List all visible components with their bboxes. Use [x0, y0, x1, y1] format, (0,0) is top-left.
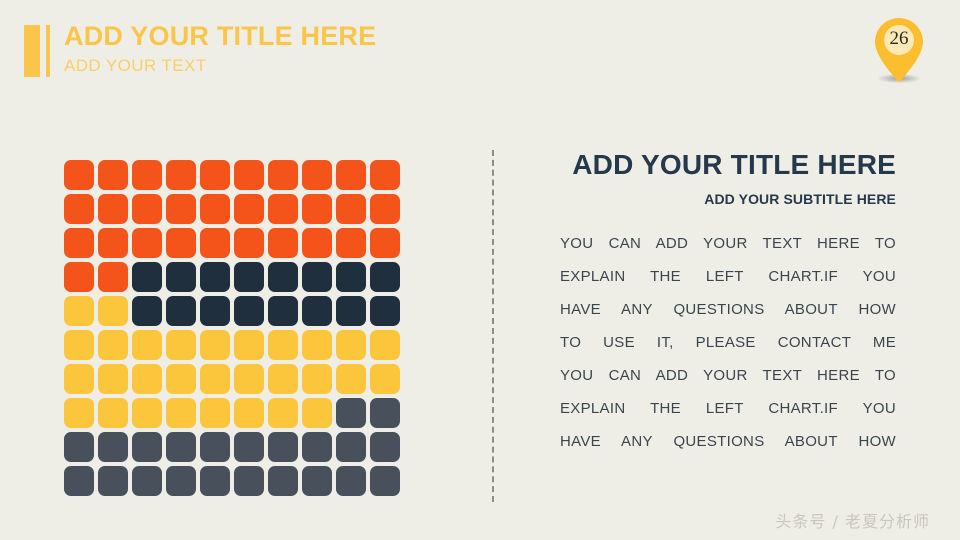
waffle-cell: [132, 466, 162, 496]
waffle-cell: [200, 330, 230, 360]
waffle-cell: [98, 262, 128, 292]
waffle-cell: [200, 160, 230, 190]
waffle-cell: [302, 194, 332, 224]
waffle-cell: [234, 330, 264, 360]
waffle-cell: [234, 466, 264, 496]
waffle-cell: [370, 296, 400, 326]
waffle-cell: [200, 228, 230, 258]
waffle-cell: [64, 364, 94, 394]
page-subtitle: ADD YOUR TEXT: [64, 56, 376, 76]
waffle-cell: [64, 432, 94, 462]
waffle-cell: [132, 262, 162, 292]
waffle-cell: [166, 330, 196, 360]
body-text-line: EXPLAIN THE LEFT CHART.IF YOU: [560, 400, 896, 417]
waffle-cell: [98, 160, 128, 190]
waffle-cell: [336, 364, 366, 394]
waffle-cell: [132, 330, 162, 360]
waffle-cell: [268, 330, 298, 360]
waffle-cell: [234, 398, 264, 428]
waffle-cell: [302, 330, 332, 360]
accent-bar-thick: [24, 25, 40, 77]
waffle-cell: [234, 228, 264, 258]
waffle-cell: [370, 330, 400, 360]
waffle-cell: [166, 194, 196, 224]
waffle-cell: [166, 296, 196, 326]
waffle-cell: [336, 160, 366, 190]
waffle-cell: [200, 364, 230, 394]
waffle-cell: [166, 466, 196, 496]
body-text-line: YOU CAN ADD YOUR TEXT HERE TO: [560, 235, 896, 252]
body-text-line: HAVE ANY QUESTIONS ABOUT HOW: [560, 301, 896, 318]
waffle-cell: [302, 466, 332, 496]
waffle-cell: [166, 364, 196, 394]
right-panel-subtitle: ADD YOUR SUBTITLE HERE: [560, 191, 896, 207]
waffle-cell: [336, 194, 366, 224]
waffle-cell: [200, 432, 230, 462]
waffle-cell: [98, 432, 128, 462]
body-text-line: HAVE ANY QUESTIONS ABOUT HOW: [560, 433, 896, 450]
waffle-cell: [132, 296, 162, 326]
waffle-cell: [302, 398, 332, 428]
page-title: ADD YOUR TITLE HERE: [64, 22, 376, 50]
waffle-cell: [132, 194, 162, 224]
waffle-cell: [336, 466, 366, 496]
waffle-cell: [336, 296, 366, 326]
waffle-cell: [98, 296, 128, 326]
waffle-cell: [98, 330, 128, 360]
waffle-cell: [370, 466, 400, 496]
waffle-cell: [302, 296, 332, 326]
body-text-line: TO USE IT, PLEASE CONTACT ME: [560, 334, 896, 351]
vertical-divider: [492, 150, 494, 502]
waffle-cell: [64, 194, 94, 224]
waffle-cell: [64, 466, 94, 496]
waffle-cell: [370, 262, 400, 292]
waffle-cell: [166, 262, 196, 292]
slide: ADD YOUR TITLE HERE ADD YOUR TEXT 26 ADD…: [0, 0, 960, 540]
waffle-cell: [98, 466, 128, 496]
waffle-cell: [132, 160, 162, 190]
right-panel-body: YOU CAN ADD YOUR TEXT HERE TOEXPLAIN THE…: [560, 235, 896, 450]
waffle-cell: [98, 364, 128, 394]
waffle-cell: [268, 432, 298, 462]
waffle-cell: [64, 262, 94, 292]
waffle-cell: [64, 398, 94, 428]
waffle-cell: [336, 262, 366, 292]
waffle-cell: [166, 398, 196, 428]
waffle-cell: [132, 398, 162, 428]
waffle-cell: [302, 262, 332, 292]
page-number-badge: 26: [866, 14, 932, 90]
waffle-cell: [268, 228, 298, 258]
waffle-cell: [370, 398, 400, 428]
waffle-cell: [268, 466, 298, 496]
waffle-cell: [336, 330, 366, 360]
waffle-chart: [64, 160, 400, 496]
waffle-cell: [234, 432, 264, 462]
waffle-cell: [370, 160, 400, 190]
waffle-cell: [98, 398, 128, 428]
header-accent-bars: [24, 22, 50, 77]
watermark: 头条号 / 老夏分析师: [775, 508, 930, 532]
body-text-line: YOU CAN ADD YOUR TEXT HERE TO: [560, 367, 896, 384]
waffle-cell: [98, 228, 128, 258]
waffle-cell: [336, 398, 366, 428]
waffle-cell: [234, 296, 264, 326]
page-number-text: 26: [866, 28, 932, 50]
waffle-cell: [268, 160, 298, 190]
waffle-cell: [166, 228, 196, 258]
waffle-cell: [336, 432, 366, 462]
waffle-cell: [234, 194, 264, 224]
waffle-cell: [234, 364, 264, 394]
waffle-cell: [268, 194, 298, 224]
waffle-cell: [302, 432, 332, 462]
waffle-cell: [64, 160, 94, 190]
waffle-cell: [268, 398, 298, 428]
waffle-cell: [268, 296, 298, 326]
waffle-cell: [98, 194, 128, 224]
waffle-cell: [234, 262, 264, 292]
waffle-cell: [64, 228, 94, 258]
waffle-cell: [370, 228, 400, 258]
slide-header: ADD YOUR TITLE HERE ADD YOUR TEXT: [24, 22, 376, 77]
waffle-cell: [200, 262, 230, 292]
accent-bar-thin: [46, 25, 50, 77]
waffle-cell: [132, 364, 162, 394]
waffle-cell: [166, 432, 196, 462]
waffle-cell: [336, 228, 366, 258]
waffle-cell: [302, 364, 332, 394]
body-text-line: EXPLAIN THE LEFT CHART.IF YOU: [560, 268, 896, 285]
right-panel: ADD YOUR TITLE HERE ADD YOUR SUBTITLE HE…: [560, 150, 896, 450]
waffle-cell: [268, 262, 298, 292]
waffle-cell: [370, 194, 400, 224]
waffle-cell: [132, 432, 162, 462]
waffle-cell: [200, 398, 230, 428]
waffle-cell: [234, 160, 264, 190]
waffle-cell: [302, 160, 332, 190]
header-text-group: ADD YOUR TITLE HERE ADD YOUR TEXT: [64, 22, 376, 76]
waffle-cell: [64, 330, 94, 360]
waffle-cell: [64, 296, 94, 326]
waffle-cell: [200, 296, 230, 326]
waffle-cell: [268, 364, 298, 394]
waffle-cell: [166, 160, 196, 190]
waffle-cell: [132, 228, 162, 258]
waffle-cell: [302, 228, 332, 258]
waffle-cell: [200, 466, 230, 496]
waffle-cell: [370, 364, 400, 394]
waffle-cell: [370, 432, 400, 462]
right-panel-title: ADD YOUR TITLE HERE: [560, 150, 896, 181]
waffle-cell: [200, 194, 230, 224]
